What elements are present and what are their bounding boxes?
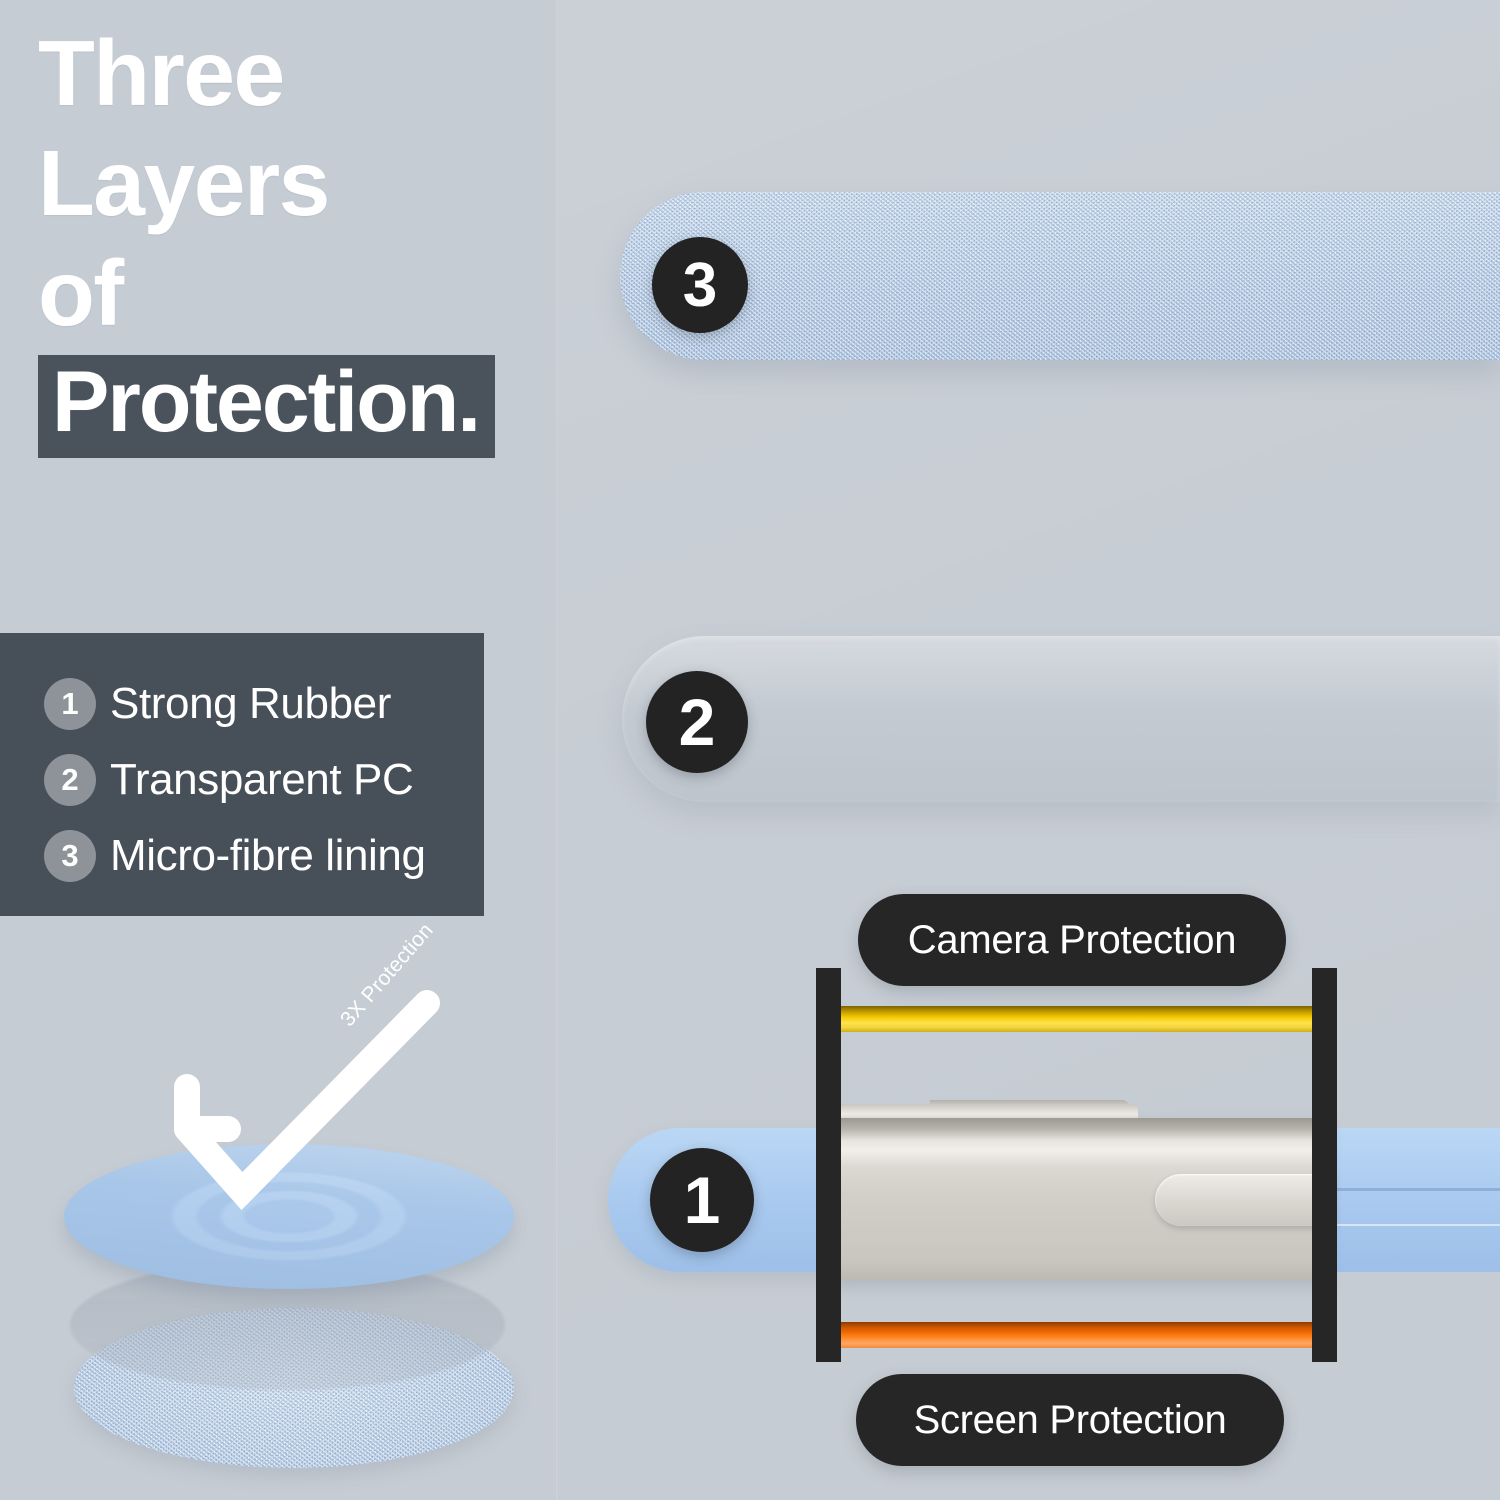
camera-protection-pill: Camera Protection (858, 894, 1286, 986)
infographic-canvas: Three Layers of Protection. 1 Strong Rub… (0, 0, 1500, 1500)
phone-side-button (1155, 1174, 1335, 1226)
screen-protection-pill: Screen Protection (856, 1374, 1284, 1466)
cross-section-diagram: 1 Camera Protection Screen Protection (0, 0, 1500, 1500)
rubber-band-seam (1316, 1188, 1500, 1191)
layer-badge-1: 1 (650, 1148, 754, 1252)
rubber-band-right (1316, 1128, 1500, 1272)
screen-protection-line (824, 1322, 1316, 1348)
bracket-right (1312, 968, 1337, 1362)
bracket-left (816, 968, 841, 1362)
camera-protection-line (824, 1006, 1316, 1032)
rubber-band-seam-highlight (1316, 1224, 1500, 1226)
